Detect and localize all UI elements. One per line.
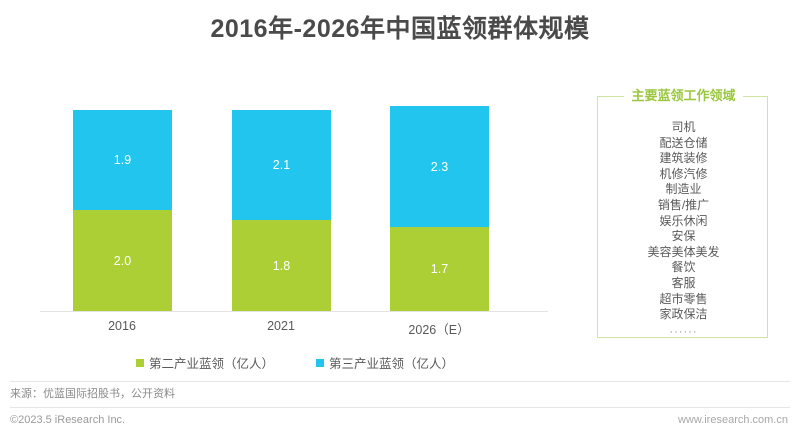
x-axis-tick-2021: 2021 (206, 319, 356, 333)
list-item: 建筑装修 (598, 151, 769, 167)
bar-label-tertiary-2021: 2.1 (232, 158, 331, 172)
website-link[interactable]: www.iresearch.com.cn (678, 412, 788, 428)
list-item: 超市零售 (598, 292, 769, 308)
side-panel-list: 司机 配送仓储 建筑装修 机修汽修 制造业 销售/推广 娱乐休闲 安保 美容美体… (598, 120, 769, 341)
footer-divider-bottom (10, 407, 790, 408)
bar-label-tertiary-2026: 2.3 (390, 160, 489, 174)
list-item: 销售/推广 (598, 198, 769, 214)
x-axis-line (40, 311, 548, 312)
x-axis-tick-2016: 2016 (47, 319, 197, 333)
list-item: 配送仓储 (598, 136, 769, 152)
legend-item-secondary-industry[interactable]: 第二产业蓝领（亿人） (136, 353, 274, 372)
legend-label-tertiary-industry: 第三产业蓝领（亿人） (329, 353, 454, 372)
list-item-ellipsis: ······ (598, 323, 769, 341)
bar-segment-secondary-2026[interactable]: 1.7 (390, 227, 489, 311)
legend-label-secondary-industry: 第二产业蓝领（亿人） (149, 353, 274, 372)
list-item: 制造业 (598, 182, 769, 198)
source-text: 来源：优蓝国际招股书，公开资料 (10, 386, 175, 402)
bar-label-secondary-2016: 2.0 (73, 254, 172, 268)
bar-segment-tertiary-2021[interactable]: 2.1 (232, 110, 331, 220)
bar-label-tertiary-2016: 1.9 (73, 153, 172, 167)
list-item: 安保 (598, 229, 769, 245)
list-item: 餐饮 (598, 260, 769, 276)
legend-swatch-green-icon (136, 359, 144, 367)
list-item: 机修汽修 (598, 167, 769, 183)
list-item: 娱乐休闲 (598, 214, 769, 230)
bar-label-secondary-2021: 1.8 (232, 259, 331, 273)
list-item: 美容美体美发 (598, 245, 769, 261)
bar-group-2016[interactable]: 1.9 2.0 (73, 110, 172, 311)
bar-segment-secondary-2021[interactable]: 1.8 (232, 220, 331, 311)
bar-label-secondary-2026: 1.7 (390, 262, 489, 276)
side-panel-blue-collar-fields: 主要蓝领工作领域 司机 配送仓储 建筑装修 机修汽修 制造业 销售/推广 娱乐休… (597, 96, 768, 338)
chart-page: 2016年-2026年中国蓝领群体规模 1.9 2.0 2.1 1.8 2.3 (0, 0, 800, 434)
side-panel-title: 主要蓝领工作领域 (598, 86, 769, 106)
list-item: 客服 (598, 276, 769, 292)
copyright-text: ©2023.5 iResearch Inc. (10, 412, 125, 428)
bar-segment-tertiary-2026[interactable]: 2.3 (390, 106, 489, 227)
x-axis-tick-2026: 2026（E） (364, 319, 514, 338)
bar-segment-secondary-2016[interactable]: 2.0 (73, 210, 172, 311)
legend-swatch-cyan-icon (316, 359, 324, 367)
plot-area: 1.9 2.0 2.1 1.8 2.3 1.7 2016 202 (40, 80, 550, 312)
side-panel-title-text: 主要蓝领工作领域 (624, 88, 742, 103)
bar-group-2021[interactable]: 2.1 1.8 (232, 110, 331, 311)
legend-item-tertiary-industry[interactable]: 第三产业蓝领（亿人） (316, 353, 454, 372)
list-item: 家政保洁 (598, 307, 769, 323)
bar-group-2026[interactable]: 2.3 1.7 (390, 106, 489, 311)
page-title: 2016年-2026年中国蓝领群体规模 (0, 13, 800, 45)
footer: 来源：优蓝国际招股书，公开资料 ©2023.5 iResearch Inc. w… (0, 381, 800, 434)
footer-divider-top (10, 381, 790, 382)
chart-legend: 第二产业蓝领（亿人） 第三产业蓝领（亿人） (40, 353, 550, 372)
bar-segment-tertiary-2016[interactable]: 1.9 (73, 110, 172, 210)
list-item: 司机 (598, 120, 769, 136)
